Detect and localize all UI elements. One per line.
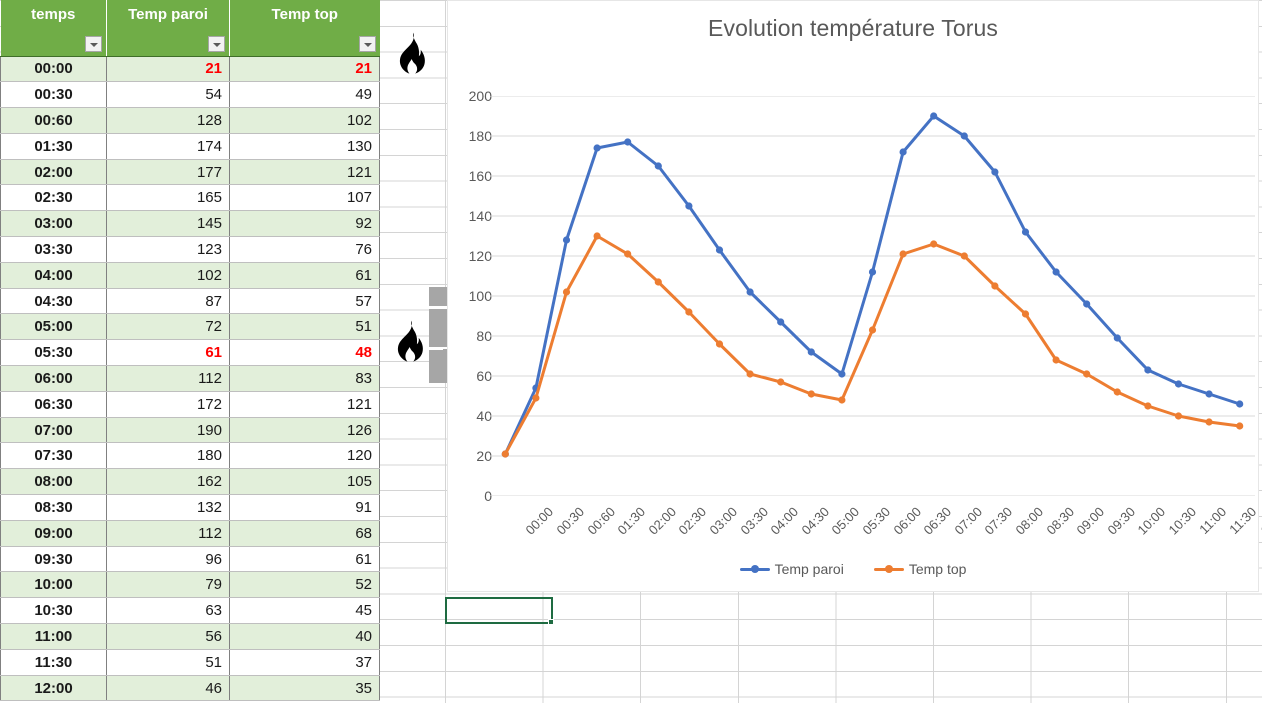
cell-temp-paroi[interactable]: 128	[107, 108, 230, 134]
cell-time[interactable]: 05:00	[1, 314, 107, 340]
table-row[interactable]: 04:0010261	[1, 262, 380, 288]
table-row[interactable]: 07:00190126	[1, 417, 380, 443]
x-axis-tick: 11:00	[1196, 504, 1229, 537]
cell-temp-top[interactable]: 48	[230, 340, 380, 366]
column-header-temps[interactable]: temps	[1, 0, 107, 56]
legend-item-temp-paroi[interactable]: Temp paroi	[740, 561, 844, 577]
x-axis-tick: 09:00	[1074, 504, 1108, 538]
table-row[interactable]: 00:60128102	[1, 108, 380, 134]
y-axis: 020406080100120140160180200	[448, 96, 492, 496]
table-row[interactable]: 00:002121	[1, 56, 380, 82]
data-point[interactable]	[1144, 402, 1151, 409]
data-point[interactable]	[624, 250, 631, 257]
y-axis-tick: 120	[452, 248, 492, 264]
data-point[interactable]	[961, 252, 968, 259]
cell-time[interactable]: 01:30	[1, 133, 107, 159]
y-axis-tick: 200	[452, 88, 492, 104]
data-point[interactable]	[930, 240, 937, 247]
cell-time[interactable]: 07:00	[1, 417, 107, 443]
cell-temp-top[interactable]: 61	[230, 262, 380, 288]
data-point[interactable]	[808, 390, 815, 397]
cell-temp-top[interactable]: 51	[230, 314, 380, 340]
data-point[interactable]	[991, 168, 998, 175]
cell-temp-paroi[interactable]: 51	[107, 649, 230, 675]
data-point[interactable]	[624, 138, 631, 145]
table-row[interactable]: 11:305137	[1, 649, 380, 675]
data-point[interactable]	[1236, 400, 1243, 407]
column-header-temps-label: temps	[31, 6, 75, 23]
cell-time[interactable]: 06:30	[1, 391, 107, 417]
data-point[interactable]	[655, 162, 662, 169]
y-axis-tick: 140	[452, 208, 492, 224]
cell-temp-top[interactable]: 105	[230, 469, 380, 495]
cell-temp-paroi[interactable]: 102	[107, 262, 230, 288]
filter-dropdown-icon-temp-top[interactable]	[359, 36, 376, 52]
cell-temp-top[interactable]: 40	[230, 624, 380, 650]
selected-cell[interactable]	[445, 597, 553, 624]
vertical-scrollbar[interactable]	[429, 287, 449, 383]
cell-time[interactable]: 06:00	[1, 366, 107, 392]
cell-temp-paroi[interactable]: 190	[107, 417, 230, 443]
y-axis-tick: 180	[452, 128, 492, 144]
data-point[interactable]	[1053, 356, 1060, 363]
data-point[interactable]	[777, 318, 784, 325]
data-point[interactable]	[594, 144, 601, 151]
cell-temp-top[interactable]: 68	[230, 520, 380, 546]
data-point[interactable]	[869, 268, 876, 275]
data-point[interactable]	[747, 288, 754, 295]
table-row[interactable]: 04:308757	[1, 288, 380, 314]
cell-temp-top[interactable]: 107	[230, 185, 380, 211]
flame-icon-top	[394, 32, 430, 76]
x-axis-tick: 00:30	[553, 504, 587, 538]
cell-temp-top[interactable]: 49	[230, 82, 380, 108]
data-point[interactable]	[502, 450, 509, 457]
cell-time[interactable]: 04:30	[1, 288, 107, 314]
series-line-0[interactable]	[505, 116, 1239, 454]
fill-handle[interactable]	[548, 619, 554, 625]
cell-temp-top[interactable]: 92	[230, 211, 380, 237]
x-axis-tick: 06:30	[921, 504, 955, 538]
cell-temp-top[interactable]: 102	[230, 108, 380, 134]
spreadsheet-window: temps Temp paroi Temp top 00:00212100:30…	[0, 0, 1262, 703]
flame-icon-middle	[392, 320, 428, 364]
x-axis-tick: 10:00	[1135, 504, 1169, 538]
table-row[interactable]: 05:007251	[1, 314, 380, 340]
data-point[interactable]	[716, 246, 723, 253]
x-axis-tick: 02:00	[645, 504, 679, 538]
table-row[interactable]: 01:30174130	[1, 133, 380, 159]
x-axis-tick: 00:60	[584, 504, 618, 538]
data-point[interactable]	[1053, 268, 1060, 275]
table-body: 00:00212100:30544900:6012810201:30174130…	[1, 56, 380, 701]
column-header-temp-top-label: Temp top	[272, 6, 338, 23]
data-point[interactable]	[685, 308, 692, 315]
legend-marker-temp-paroi	[740, 563, 770, 575]
cell-temp-top[interactable]: 61	[230, 546, 380, 572]
cell-time[interactable]: 03:00	[1, 211, 107, 237]
cell-temp-top[interactable]: 130	[230, 133, 380, 159]
x-axis-tick: 11:30	[1226, 504, 1259, 537]
data-point[interactable]	[900, 250, 907, 257]
table-row[interactable]: 05:306148	[1, 340, 380, 366]
y-axis-tick: 100	[452, 288, 492, 304]
chart-title: Evolution température Torus	[448, 15, 1258, 42]
x-axis-tick: 04:00	[768, 504, 802, 538]
table-row[interactable]: 08:00162105	[1, 469, 380, 495]
cell-time[interactable]: 09:00	[1, 520, 107, 546]
table-row[interactable]: 11:005640	[1, 624, 380, 650]
cell-time[interactable]: 04:00	[1, 262, 107, 288]
table-row[interactable]: 02:30165107	[1, 185, 380, 211]
x-axis-tick: 03:30	[737, 504, 771, 538]
data-point[interactable]	[838, 370, 845, 377]
x-axis-tick: 07:30	[982, 504, 1016, 538]
table-row[interactable]: 10:306345	[1, 598, 380, 624]
cell-temp-paroi[interactable]: 21	[107, 56, 230, 82]
cell-temp-paroi[interactable]: 72	[107, 314, 230, 340]
cell-time[interactable]: 02:30	[1, 185, 107, 211]
data-point[interactable]	[1083, 300, 1090, 307]
cell-temp-top[interactable]: 37	[230, 649, 380, 675]
data-point[interactable]	[961, 132, 968, 139]
data-point[interactable]	[808, 348, 815, 355]
x-axis-tick: 08:00	[1012, 504, 1046, 538]
cell-temp-paroi[interactable]: 79	[107, 572, 230, 598]
cell-time[interactable]: 10:30	[1, 598, 107, 624]
data-point[interactable]	[1144, 366, 1151, 373]
x-axis-tick: 05:30	[859, 504, 893, 538]
cell-temp-paroi[interactable]: 112	[107, 520, 230, 546]
cell-temp-top[interactable]: 35	[230, 675, 380, 701]
data-point[interactable]	[563, 288, 570, 295]
x-axis-tick: 09:30	[1104, 504, 1138, 538]
data-point[interactable]	[655, 278, 662, 285]
legend-item-temp-top[interactable]: Temp top	[874, 561, 967, 577]
cell-temp-paroi[interactable]: 61	[107, 340, 230, 366]
cell-temp-paroi[interactable]: 174	[107, 133, 230, 159]
x-axis-tick: 10:30	[1165, 504, 1199, 538]
legend-label-temp-paroi: Temp paroi	[775, 561, 844, 577]
table-row[interactable]: 00:305449	[1, 82, 380, 108]
cell-temp-paroi[interactable]: 54	[107, 82, 230, 108]
y-axis-tick: 160	[452, 168, 492, 184]
data-point[interactable]	[716, 340, 723, 347]
cell-temp-paroi[interactable]: 46	[107, 675, 230, 701]
data-point[interactable]	[563, 236, 570, 243]
cell-temp-paroi[interactable]: 172	[107, 391, 230, 417]
cell-temp-top[interactable]: 91	[230, 495, 380, 521]
cell-temp-top[interactable]: 121	[230, 391, 380, 417]
column-header-temp-paroi-label: Temp paroi	[128, 6, 208, 23]
cell-time[interactable]: 03:30	[1, 237, 107, 263]
data-point[interactable]	[1022, 228, 1029, 235]
cell-time[interactable]: 02:00	[1, 159, 107, 185]
legend-marker-temp-top	[874, 563, 904, 575]
data-point[interactable]	[594, 232, 601, 239]
x-axis-tick: 06:00	[890, 504, 924, 538]
legend-label-temp-top: Temp top	[909, 561, 967, 577]
cell-temp-paroi[interactable]: 177	[107, 159, 230, 185]
cell-temp-paroi[interactable]: 123	[107, 237, 230, 263]
cell-temp-top[interactable]: 126	[230, 417, 380, 443]
cell-temp-top[interactable]: 57	[230, 288, 380, 314]
cell-time[interactable]: 11:00	[1, 624, 107, 650]
data-point[interactable]	[532, 394, 539, 401]
table-row[interactable]: 10:007952	[1, 572, 380, 598]
data-point[interactable]	[1114, 388, 1121, 395]
cell-time[interactable]: 12:00	[1, 675, 107, 701]
cell-time[interactable]: 09:30	[1, 546, 107, 572]
table-row[interactable]: 07:30180120	[1, 443, 380, 469]
cell-temp-top[interactable]: 76	[230, 237, 380, 263]
cell-temp-paroi[interactable]: 63	[107, 598, 230, 624]
cell-temp-paroi[interactable]: 112	[107, 366, 230, 392]
data-point[interactable]	[1236, 422, 1243, 429]
cell-time[interactable]: 08:30	[1, 495, 107, 521]
table-row[interactable]: 03:0014592	[1, 211, 380, 237]
cell-time[interactable]: 00:60	[1, 108, 107, 134]
x-axis-tick: 03:00	[706, 504, 740, 538]
table-row[interactable]: 02:00177121	[1, 159, 380, 185]
temperature-table: temps Temp paroi Temp top 00:00212100:30…	[0, 0, 379, 701]
chart-legend[interactable]: Temp paroi Temp top	[448, 561, 1258, 577]
column-header-temp-top[interactable]: Temp top	[230, 0, 380, 56]
cell-temp-top[interactable]: 45	[230, 598, 380, 624]
cell-time[interactable]: 00:00	[1, 56, 107, 82]
x-axis-tick: 01:30	[615, 504, 649, 538]
y-axis-tick: 20	[452, 448, 492, 464]
data-point[interactable]	[1083, 370, 1090, 377]
cell-temp-top[interactable]: 121	[230, 159, 380, 185]
data-point[interactable]	[747, 370, 754, 377]
data-point[interactable]	[991, 282, 998, 289]
table-row[interactable]: 12:004635	[1, 675, 380, 701]
data-point[interactable]	[1206, 418, 1213, 425]
y-axis-tick: 60	[452, 368, 492, 384]
table-row[interactable]: 06:0011283	[1, 366, 380, 392]
data-point[interactable]	[777, 378, 784, 385]
cell-temp-top[interactable]: 21	[230, 56, 380, 82]
cell-time[interactable]: 00:30	[1, 82, 107, 108]
cell-temp-paroi[interactable]: 180	[107, 443, 230, 469]
y-axis-tick: 40	[452, 408, 492, 424]
x-axis-tick: 05:00	[829, 504, 863, 538]
cell-time[interactable]: 11:30	[1, 649, 107, 675]
filter-dropdown-icon-temp-paroi[interactable]	[208, 36, 225, 52]
cell-time[interactable]: 05:30	[1, 340, 107, 366]
cell-temp-paroi[interactable]: 87	[107, 288, 230, 314]
x-axis-tick: 08:30	[1043, 504, 1077, 538]
filter-dropdown-icon-temps[interactable]	[85, 36, 102, 52]
cell-temp-paroi[interactable]: 132	[107, 495, 230, 521]
table-header-row: temps Temp paroi Temp top	[1, 0, 380, 56]
cell-time[interactable]: 10:00	[1, 572, 107, 598]
data-point[interactable]	[1175, 412, 1182, 419]
cell-temp-paroi[interactable]: 56	[107, 624, 230, 650]
table-row[interactable]: 03:3012376	[1, 237, 380, 263]
cell-time[interactable]: 08:00	[1, 469, 107, 495]
data-point[interactable]	[930, 112, 937, 119]
x-axis: 00:0000:3000:6001:3002:0002:3003:0003:30…	[490, 498, 1255, 558]
cell-temp-paroi[interactable]: 165	[107, 185, 230, 211]
x-axis-tick: 02:30	[676, 504, 710, 538]
x-axis-tick: 07:00	[951, 504, 985, 538]
line-chart[interactable]: Evolution température Torus 020406080100…	[447, 0, 1259, 592]
cell-temp-top[interactable]: 52	[230, 572, 380, 598]
cell-temp-top[interactable]: 120	[230, 443, 380, 469]
table-row[interactable]: 09:309661	[1, 546, 380, 572]
cell-temp-paroi[interactable]: 162	[107, 469, 230, 495]
data-point[interactable]	[869, 326, 876, 333]
x-axis-tick: 04:30	[798, 504, 832, 538]
table-row[interactable]: 09:0011268	[1, 520, 380, 546]
data-point[interactable]	[685, 202, 692, 209]
data-point[interactable]	[1175, 380, 1182, 387]
table-row[interactable]: 08:3013291	[1, 495, 380, 521]
table-row[interactable]: 06:30172121	[1, 391, 380, 417]
data-point[interactable]	[1114, 334, 1121, 341]
data-point[interactable]	[1022, 310, 1029, 317]
y-axis-tick: 0	[452, 488, 492, 504]
cell-temp-paroi[interactable]: 145	[107, 211, 230, 237]
data-point[interactable]	[838, 396, 845, 403]
column-header-temp-paroi[interactable]: Temp paroi	[107, 0, 230, 56]
y-axis-tick: 80	[452, 328, 492, 344]
cell-time[interactable]: 07:30	[1, 443, 107, 469]
x-axis-tick: 00:00	[523, 504, 557, 538]
data-point[interactable]	[1206, 390, 1213, 397]
data-point[interactable]	[900, 148, 907, 155]
cell-temp-top[interactable]: 83	[230, 366, 380, 392]
plot-area	[490, 96, 1255, 496]
cell-temp-paroi[interactable]: 96	[107, 546, 230, 572]
